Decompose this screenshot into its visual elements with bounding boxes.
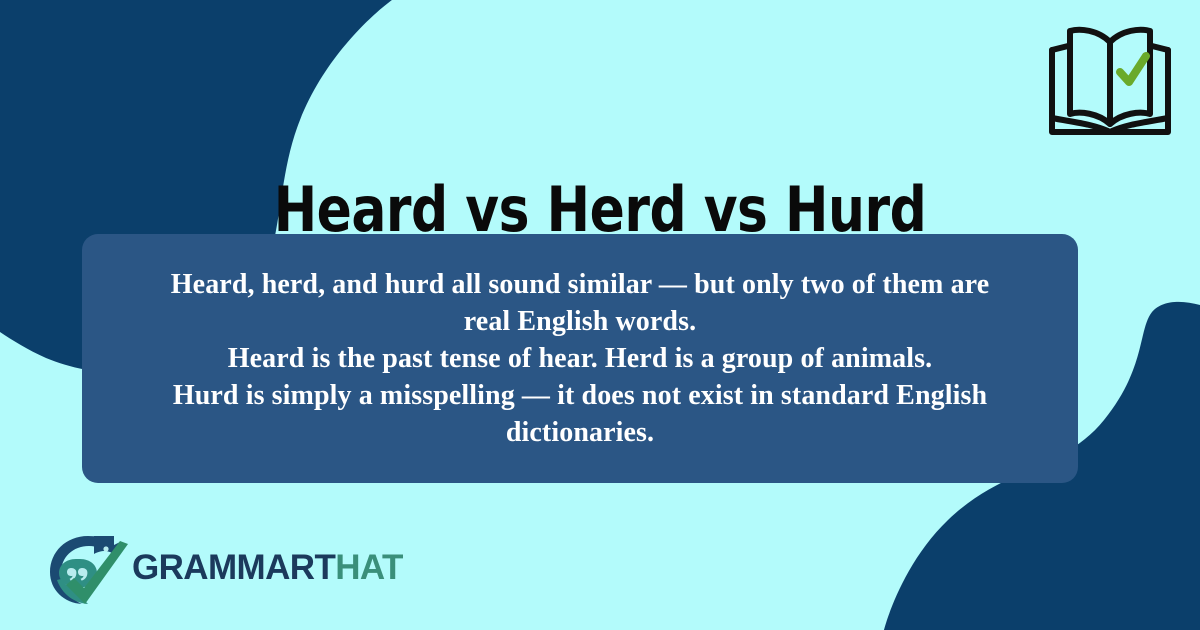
logo-word-primary: GRAMMART <box>132 548 335 587</box>
open-book-icon <box>1036 18 1184 140</box>
poster-canvas: Heard vs Herd vs Hurd Heard, herd, and h… <box>0 0 1200 630</box>
explanation-panel: Heard, herd, and hurd all sound similar … <box>82 234 1078 483</box>
explanation-text: Heard, herd, and hurd all sound similar … <box>112 266 1048 451</box>
explanation-line: Heard, herd, and hurd all sound similar … <box>112 266 1048 303</box>
explanation-line: real English words. <box>112 303 1048 340</box>
explanation-line: Hurd is simply a misspelling — it does n… <box>112 377 1048 414</box>
logo-wordmark: GRAMMARTHAT <box>132 548 403 588</box>
logo-word-secondary: HAT <box>335 548 403 587</box>
brand-logo[interactable]: GRAMMARTHAT <box>44 530 403 606</box>
explanation-line: dictionaries. <box>112 414 1048 451</box>
logo-mark-icon <box>44 530 130 606</box>
book-page-left <box>1070 30 1110 124</box>
explanation-line: Heard is the past tense of hear. Herd is… <box>112 340 1048 377</box>
